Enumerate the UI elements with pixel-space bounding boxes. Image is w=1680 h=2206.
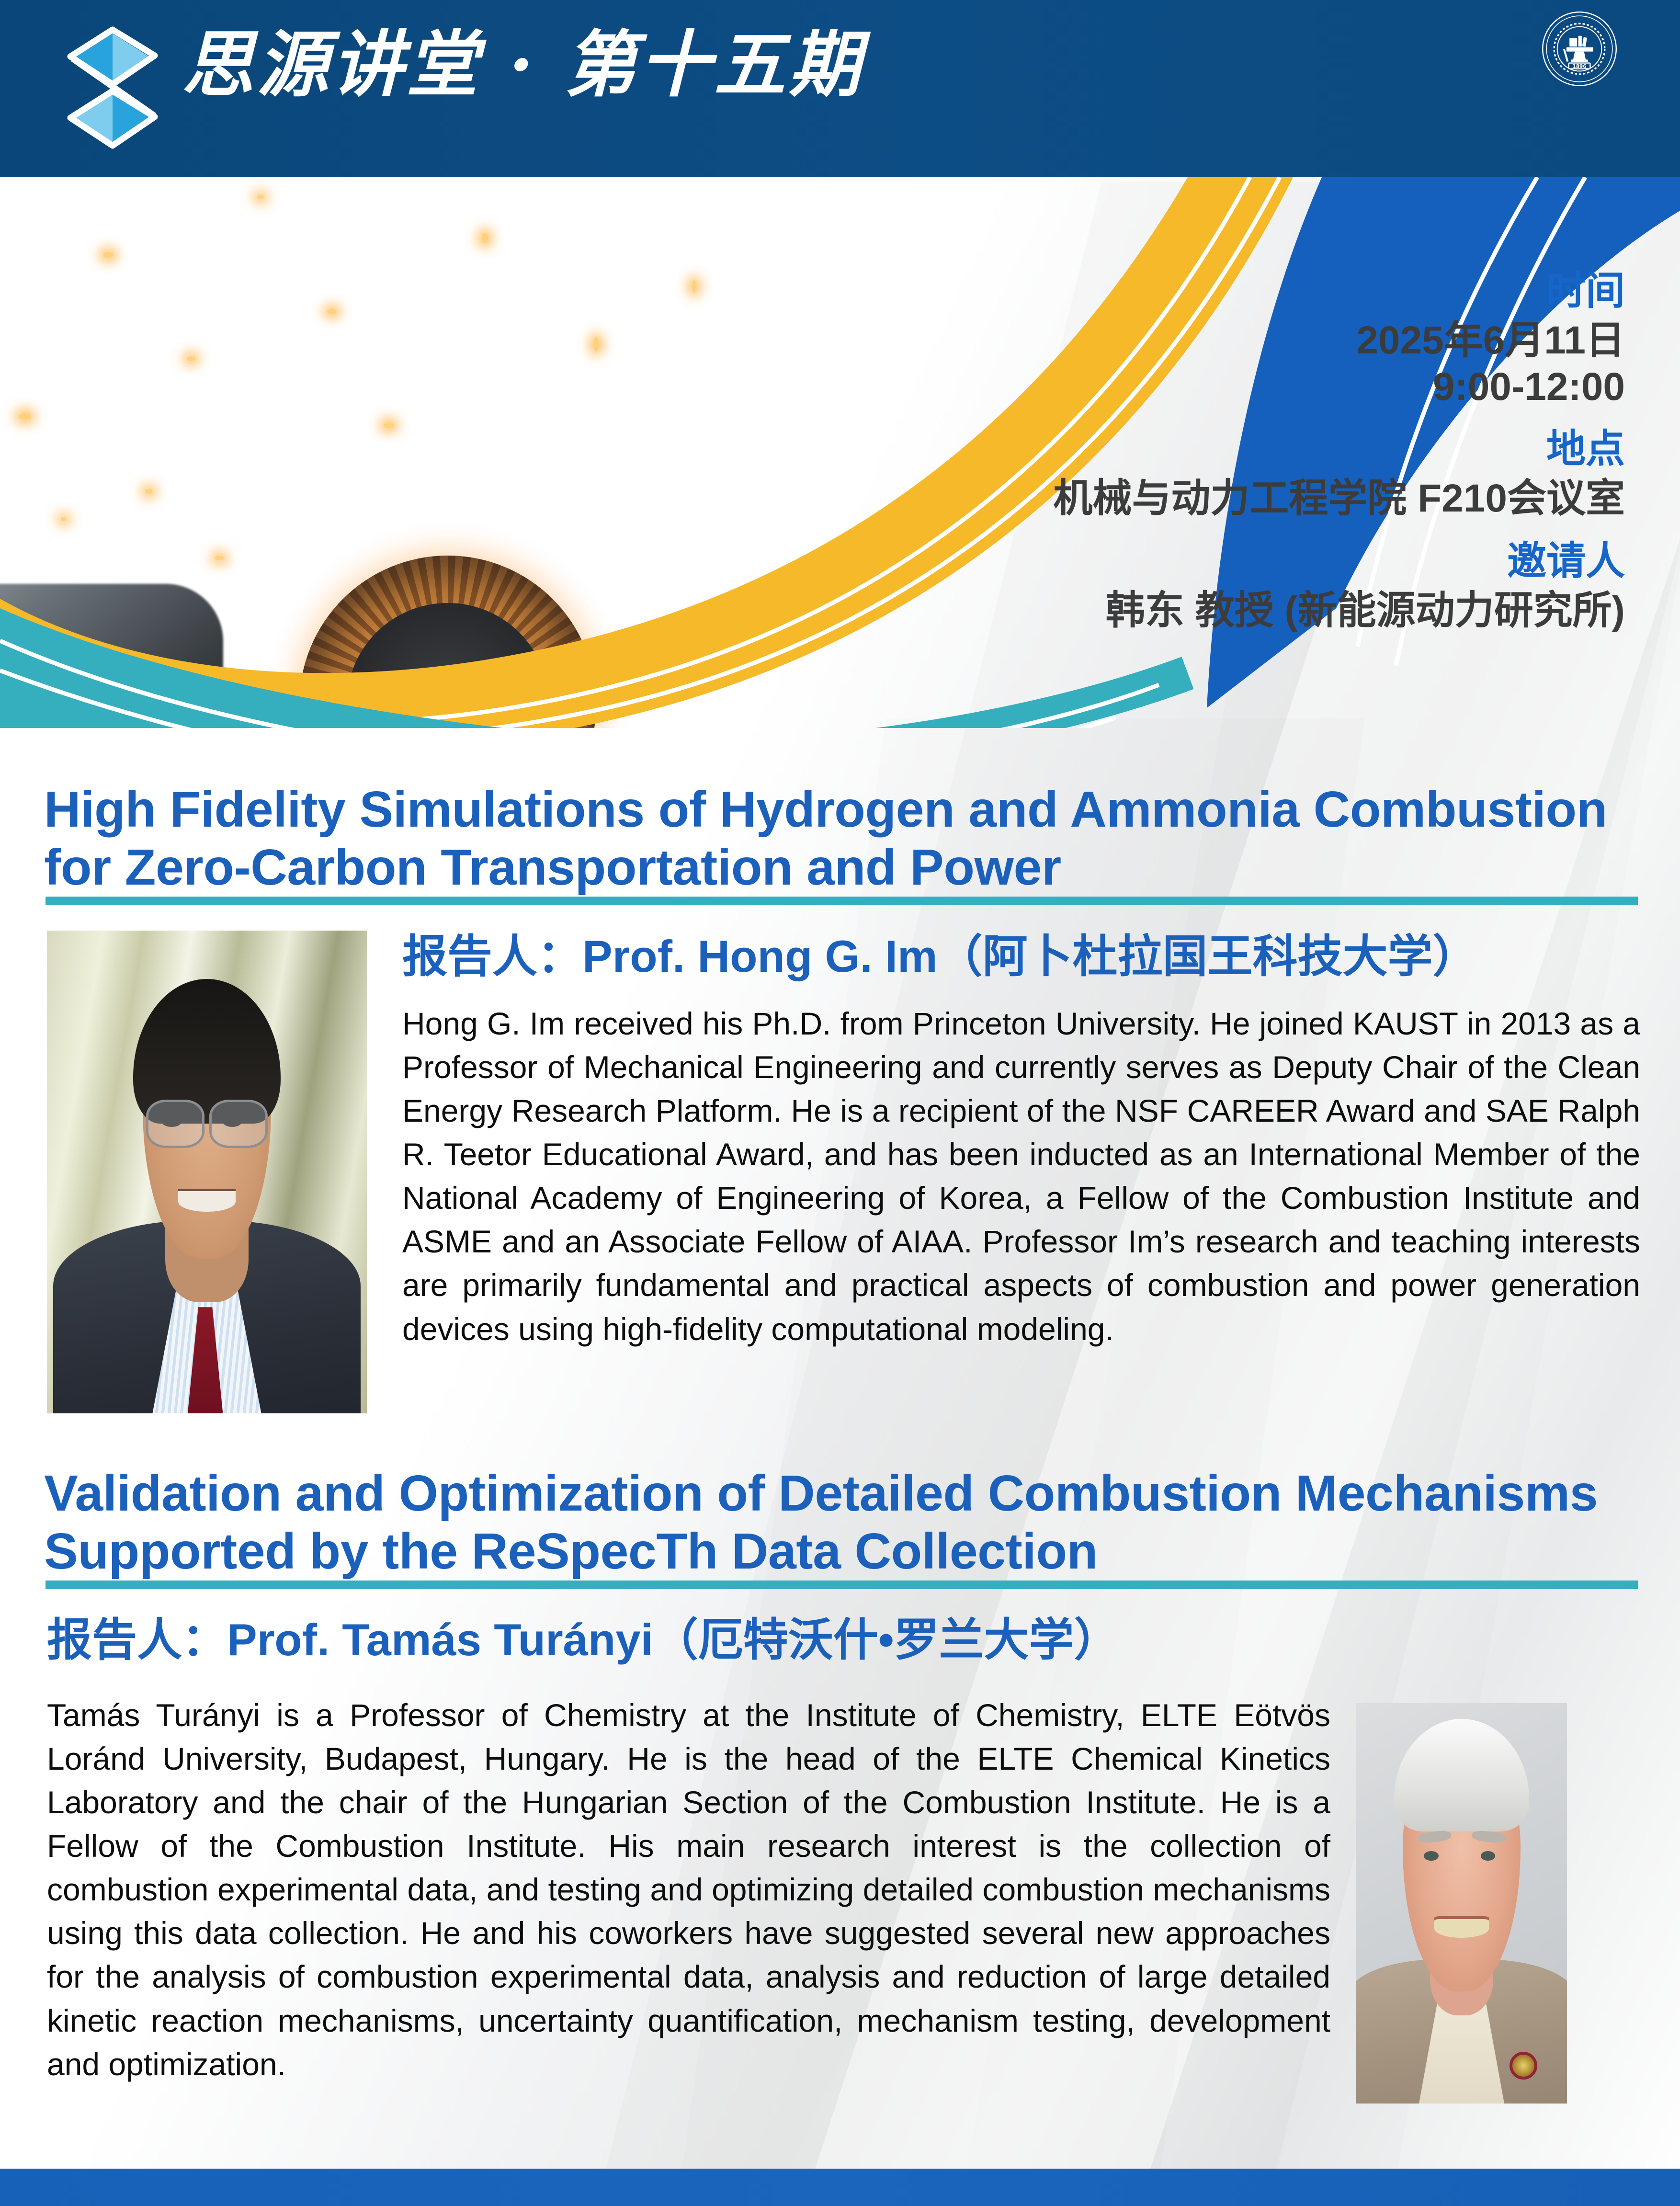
talk-2-speaker-portrait <box>1356 1703 1567 2104</box>
talk-2-title: Validation and Optimization of Detailed … <box>44 1465 1639 1581</box>
poster-footer-bar <box>0 2169 1680 2206</box>
event-venue-group: 地点 机械与动力工程学院 F210会议室 <box>907 426 1625 522</box>
event-info: 时间 2025年6月11日 9:00-12:00 地点 机械与动力工程学院 F2… <box>907 268 1625 634</box>
talk-1-bio: Hong G. Im received his Ph.D. from Princ… <box>402 1002 1640 1351</box>
host-label: 邀请人 <box>907 538 1625 585</box>
siyuan-diamond-logo-icon <box>67 23 158 152</box>
venue-value: 机械与动力工程学院 F210会议室 <box>907 476 1625 522</box>
event-host-group: 邀请人 韩东 教授 (新能源动力研究所) <box>907 538 1625 634</box>
talk-1-title-line2: for Zero-Carbon Transportation and Power <box>44 839 1639 897</box>
talk-2-divider <box>45 1581 1638 1589</box>
time-label: 时间 <box>907 268 1625 315</box>
venue-label: 地点 <box>907 426 1625 473</box>
sjtu-university-seal-icon: 1896 <box>1541 11 1618 87</box>
seal-year: 1896 <box>1573 64 1587 69</box>
talk-2-title-line1: Validation and Optimization of Detailed … <box>44 1465 1639 1523</box>
poster-canvas: 思源讲堂 · 第十五期 1896 <box>0 0 1680 2206</box>
talk-1-speaker-portrait <box>47 931 367 1413</box>
event-time-group: 时间 2025年6月11日 9:00-12:00 <box>907 268 1625 410</box>
talk-1-title: High Fidelity Simulations of Hydrogen an… <box>44 781 1639 897</box>
time-date-value: 2025年6月11日 <box>907 318 1625 364</box>
time-range-value: 9:00-12:00 <box>907 364 1625 410</box>
talk-1-speaker-line: 报告人：Prof. Hong G. Im（阿卜杜拉国王科技大学） <box>402 932 1478 981</box>
host-value: 韩东 教授 (新能源动力研究所) <box>907 588 1625 634</box>
talk-1-divider <box>45 897 1638 905</box>
talk-2-bio: Tamás Turányi is a Professor of Chemistr… <box>47 1694 1330 2086</box>
talk-2-title-line2: Supported by the ReSpecTh Data Collectio… <box>44 1523 1639 1581</box>
talk-2-speaker-line: 报告人：Prof. Tamás Turányi（厄特沃什•罗兰大学） <box>47 1615 1119 1664</box>
brand-title: 思源讲堂 · 第十五期 <box>182 29 863 101</box>
talk-1-title-line1: High Fidelity Simulations of Hydrogen an… <box>44 781 1639 839</box>
poster-header: 思源讲堂 · 第十五期 1896 <box>0 0 1680 177</box>
